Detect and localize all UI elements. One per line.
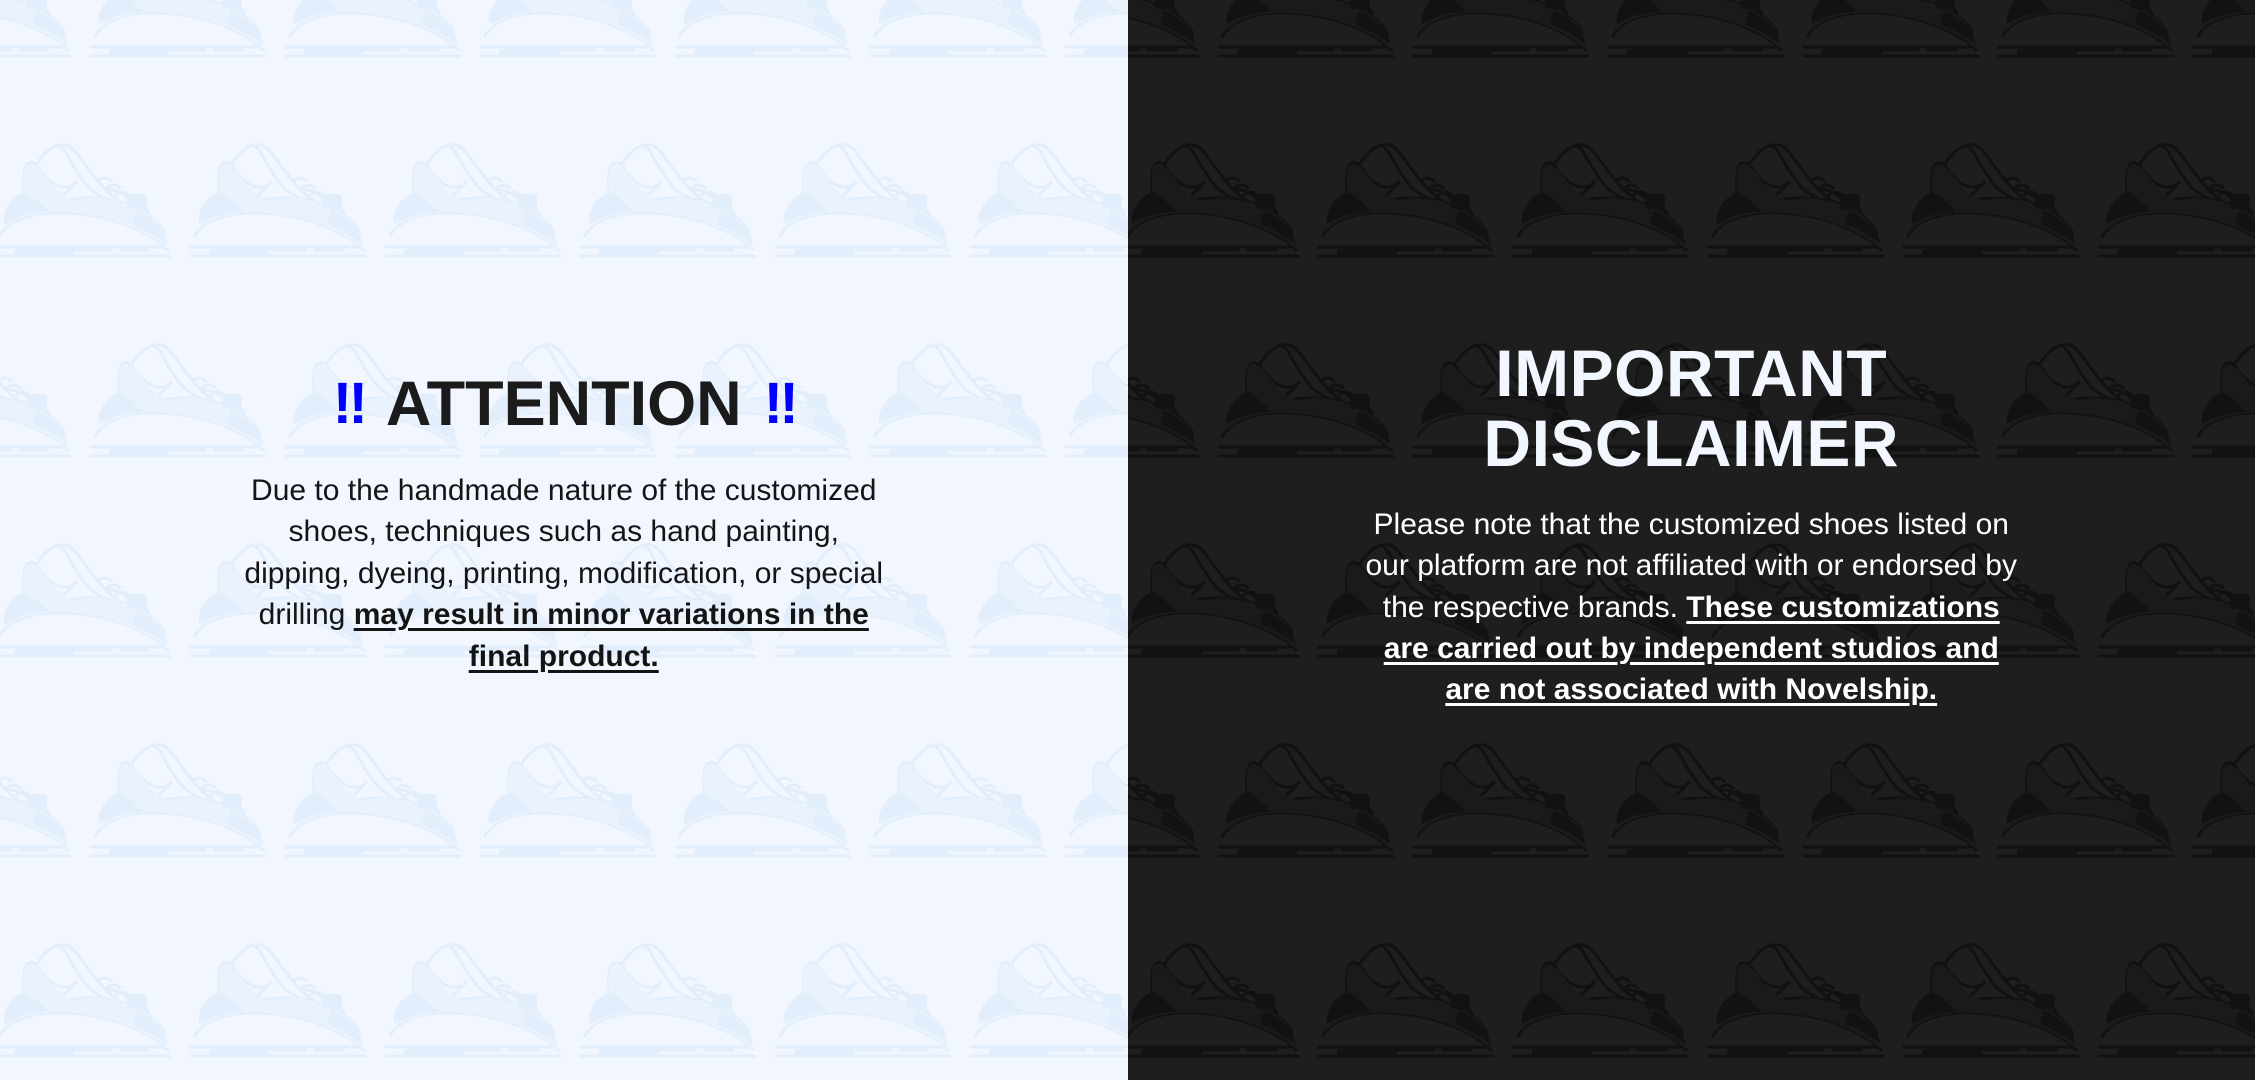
sneaker-icon xyxy=(1060,340,1128,470)
sneaker-icon xyxy=(1408,740,1603,870)
sneaker-icon xyxy=(85,740,280,870)
sneaker-icon xyxy=(670,0,865,70)
disclaimer-content: IMPORTANT DISCLAIMER Please note that th… xyxy=(1291,339,2091,711)
sneaker-icon xyxy=(1128,340,1213,470)
sneaker-icon xyxy=(770,140,965,270)
sneaker-pattern-row xyxy=(1128,740,2255,870)
attention-content: ‼ATTENTION‼ Due to the handmade nature o… xyxy=(164,373,964,677)
sneaker-pattern-row xyxy=(1128,0,2255,70)
sneaker-icon xyxy=(965,540,1128,670)
sneaker-icon xyxy=(1798,740,1993,870)
sneaker-icon xyxy=(475,740,670,870)
sneaker-icon xyxy=(0,0,85,70)
sneaker-icon xyxy=(0,340,85,470)
sneaker-icon xyxy=(1128,0,1213,70)
sneaker-icon xyxy=(85,0,280,70)
attention-body-emphasis: may result in minor variations in the fi… xyxy=(354,598,869,672)
sneaker-icon xyxy=(965,940,1128,1070)
sneaker-icon xyxy=(2188,740,2255,870)
sneaker-icon xyxy=(1508,940,1703,1070)
sneaker-icon xyxy=(0,540,185,670)
attention-headline: ‼ATTENTION‼ xyxy=(164,373,964,436)
sneaker-icon xyxy=(865,0,1060,70)
sneaker-icon xyxy=(2188,0,2255,70)
sneaker-icon xyxy=(2093,940,2255,1070)
double-exclamation-right-icon: ‼ xyxy=(764,375,795,433)
sneaker-icon xyxy=(1313,940,1508,1070)
attention-body: Due to the handmade nature of the custom… xyxy=(244,470,884,677)
sneaker-icon xyxy=(1898,140,2093,270)
sneaker-icon xyxy=(1313,140,1508,270)
sneaker-icon xyxy=(2093,540,2255,670)
disclaimer-headline-line2: DISCLAIMER xyxy=(1291,409,2091,478)
sneaker-icon xyxy=(185,140,380,270)
sneaker-icon xyxy=(1993,0,2188,70)
sneaker-icon xyxy=(1213,740,1408,870)
sneaker-pattern-row xyxy=(1128,140,2255,270)
sneaker-icon xyxy=(865,740,1060,870)
sneaker-icon xyxy=(575,140,770,270)
sneaker-icon xyxy=(1798,0,1993,70)
sneaker-icon xyxy=(2188,340,2255,470)
disclaimer-panel: IMPORTANT DISCLAIMER Please note that th… xyxy=(1128,0,2255,1080)
attention-headline-word: ATTENTION xyxy=(364,373,764,436)
sneaker-icon xyxy=(0,140,185,270)
sneaker-icon xyxy=(280,0,475,70)
sneaker-icon xyxy=(380,940,575,1070)
sneaker-pattern-row xyxy=(0,0,1128,70)
sneaker-icon xyxy=(965,140,1128,270)
sneaker-icon xyxy=(1603,0,1798,70)
sneaker-icon xyxy=(0,740,85,870)
disclaimer-body: Please note that the customized shoes li… xyxy=(1361,504,2021,711)
sneaker-pattern-row xyxy=(0,740,1128,870)
double-exclamation-left-icon: ‼ xyxy=(333,375,364,433)
sneaker-icon xyxy=(670,740,865,870)
sneaker-icon xyxy=(1703,940,1898,1070)
sneaker-icon xyxy=(185,940,380,1070)
sneaker-pattern-row xyxy=(0,940,1128,1070)
sneaker-icon xyxy=(1128,140,1313,270)
sneaker-pattern-row xyxy=(0,140,1128,270)
disclaimer-headline-line1: IMPORTANT xyxy=(1291,339,2091,408)
disclaimer-banner: ‼ATTENTION‼ Due to the handmade nature o… xyxy=(0,0,2255,1080)
sneaker-icon xyxy=(1128,540,1313,670)
sneaker-icon xyxy=(1213,0,1408,70)
sneaker-icon xyxy=(1128,740,1213,870)
sneaker-pattern-row xyxy=(1128,940,2255,1070)
sneaker-icon xyxy=(1408,0,1603,70)
sneaker-icon xyxy=(2093,140,2255,270)
sneaker-icon xyxy=(1603,740,1798,870)
disclaimer-headline: IMPORTANT DISCLAIMER xyxy=(1291,339,2091,478)
sneaker-icon xyxy=(1508,140,1703,270)
sneaker-icon xyxy=(575,940,770,1070)
sneaker-icon xyxy=(280,740,475,870)
sneaker-icon xyxy=(1703,140,1898,270)
sneaker-icon xyxy=(475,0,670,70)
sneaker-icon xyxy=(1060,740,1128,870)
sneaker-icon xyxy=(0,940,185,1070)
sneaker-icon xyxy=(1060,0,1128,70)
sneaker-icon xyxy=(1898,940,2093,1070)
sneaker-icon xyxy=(1993,740,2188,870)
sneaker-icon xyxy=(1128,940,1313,1070)
sneaker-icon xyxy=(770,940,965,1070)
attention-panel: ‼ATTENTION‼ Due to the handmade nature o… xyxy=(0,0,1128,1080)
sneaker-icon xyxy=(380,140,575,270)
